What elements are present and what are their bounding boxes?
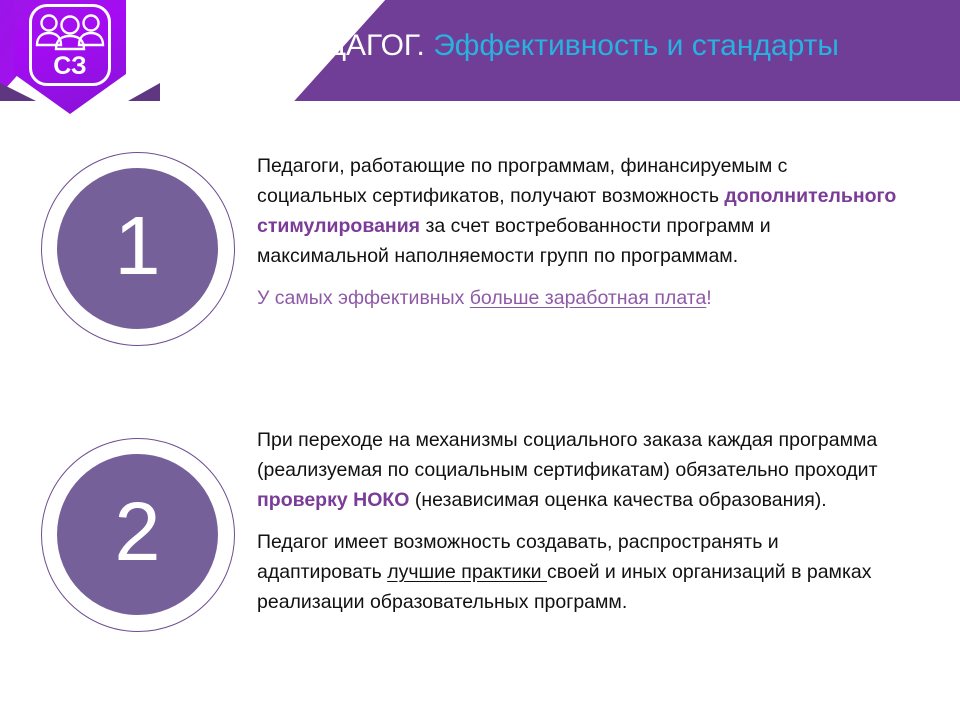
run-purple: У самых эффективных: [257, 287, 470, 309]
run-purple: !: [706, 287, 711, 309]
step-number-circle-1: 1: [41, 152, 235, 346]
logo-badge-text: СЗ: [14, 54, 126, 79]
content-block-2: При переходе на механизмы социального за…: [257, 425, 897, 617]
run-underline: лучшие практики: [387, 561, 547, 583]
run-purple-underline: больше заработная плата: [470, 287, 707, 309]
run-highlight: проверку НОКО: [257, 489, 409, 511]
run-plain: Педагоги, работающие по программам, фина…: [257, 155, 787, 207]
page-title-main: СЗ. ПЕДАГОГ.: [228, 29, 425, 62]
paragraph-2-2: Педагог имеет возможность создавать, рас…: [257, 527, 897, 617]
step-number-label-2: 2: [114, 490, 160, 573]
paragraph-1-2-callout: У самых эффективных больше заработная пл…: [257, 283, 897, 313]
paragraph-1-1: Педагоги, работающие по программам, фина…: [257, 151, 897, 271]
content-block-1: Педагоги, работающие по программам, фина…: [257, 151, 897, 313]
run-plain: При переходе на механизмы социального за…: [257, 429, 878, 481]
people-group-icon: [32, 12, 108, 52]
page-title: СЗ. ПЕДАГОГ. Эффективность и стандарты: [228, 28, 948, 64]
page-title-accent: Эффективность и стандарты: [433, 29, 839, 62]
step-number-label-1: 1: [114, 204, 160, 287]
slide-canvas: СЗ. ПЕДАГОГ. Эффективность и стандарты С…: [0, 0, 960, 720]
paragraph-2-1: При переходе на механизмы социального за…: [257, 425, 897, 515]
slide-header: СЗ. ПЕДАГОГ. Эффективность и стандарты: [0, 0, 960, 101]
step-number-disc-1: 1: [57, 168, 218, 329]
run-plain: (независимая оценка качества образования…: [409, 489, 826, 511]
step-number-circle-2: 2: [41, 438, 235, 632]
step-number-disc-2: 2: [57, 454, 218, 615]
